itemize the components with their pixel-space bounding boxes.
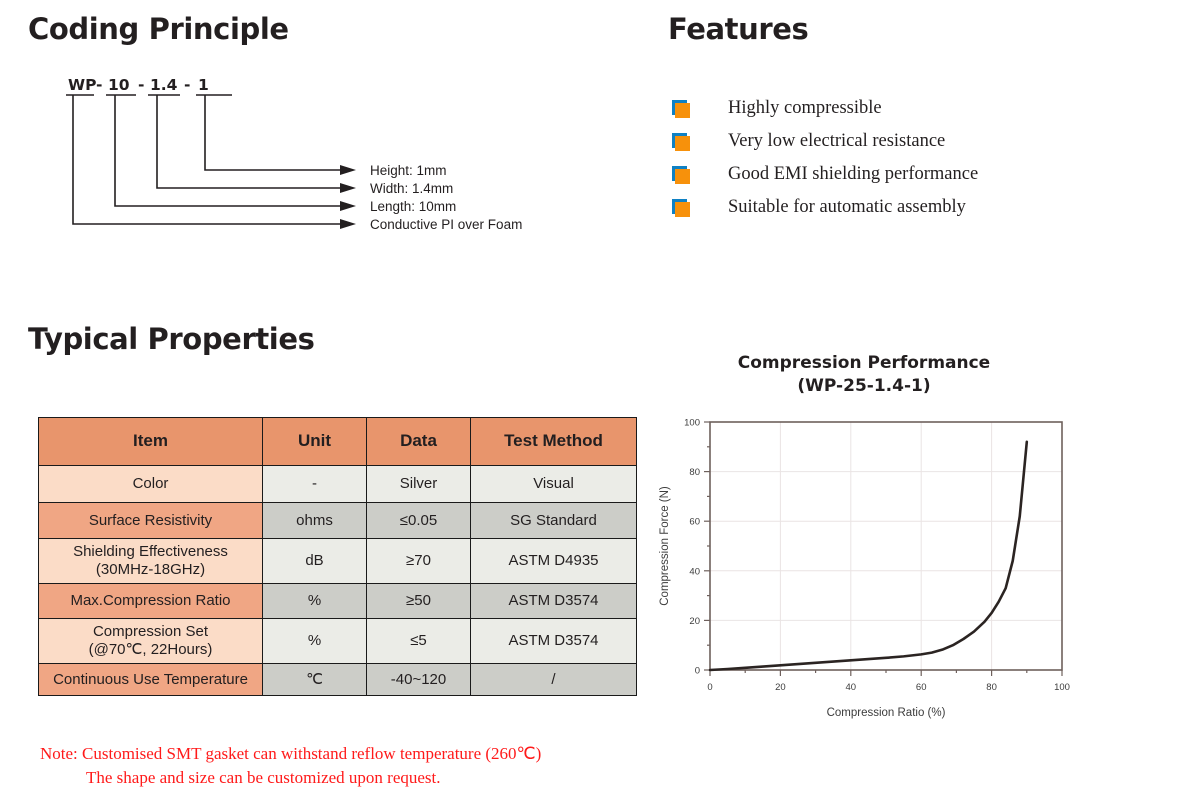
arrowhead-length [340,201,356,211]
cell-test-method: Visual [471,466,637,503]
cell-item-line1: Shielding Effectiveness [73,543,228,560]
code-part-width: 1.4 [150,76,178,94]
feature-label: Highly compressible [728,98,882,119]
cell-item: Surface Resistivity [39,503,263,539]
bullet-front-layer [675,169,690,184]
feature-item: Highly compressible [672,92,1152,125]
feature-item: Very low electrical resistance [672,125,1152,158]
table-row: Color - Silver Visual [39,466,637,503]
arrowhead-material [340,219,356,229]
table-row: Max.Compression Ratio % ≥50 ASTM D3574 [39,584,637,619]
column-header-unit: Unit [263,418,367,466]
chart-title-line2: (WP-25-1.4-1) [658,375,1070,398]
arrowhead-height [340,165,356,175]
table-row: Shielding Effectiveness (30MHz-18GHz) dB… [39,539,637,584]
column-header-test-method: Test Method [471,418,637,466]
column-header-item: Item [39,418,263,466]
code-dash-2: - [138,76,144,94]
chart-ticks [704,422,1062,676]
chart-gridlines [710,422,1062,670]
cell-item-line2: (@70℃, 22Hours) [89,641,213,658]
cell-item: Compression Set (@70℃, 22Hours) [39,619,263,664]
chart-y-tick: 0 [695,666,700,677]
cell-test-method: ASTM D3574 [471,584,637,619]
bullet-front-layer [675,103,690,118]
feature-item: Suitable for automatic assembly [672,191,1152,224]
cell-data: ≤0.05 [367,503,471,539]
note-line-1: Note: Customised SMT gasket can withstan… [40,744,541,763]
features-heading: Features [668,12,808,46]
chart-title-line1: Compression Performance [658,352,1070,375]
table-row: Continuous Use Temperature ℃ -40~120 / [39,664,637,696]
coding-principle-heading: Coding Principle [28,12,289,46]
chart-y-tick-labels: 020406080100 [684,418,700,677]
callout-label-length: Length: 10mm [370,199,456,214]
cell-test-method: / [471,664,637,696]
cell-test-method: ASTM D3574 [471,619,637,664]
chart-frame [710,422,1062,670]
code-part-length: 10 [108,76,130,94]
bullet-front-layer [675,202,690,217]
column-header-data: Data [367,418,471,466]
cell-item: Continuous Use Temperature [39,664,263,696]
orange-square-bullet-icon [672,132,708,152]
chart-plot-area: 020406080100 020406080100 Compression Ra… [652,414,1077,729]
coding-diagram-svg: WP - 10 - 1.4 - 1 Height: 1mm Width: 1.4… [0,60,620,250]
chart-x-tick: 80 [986,682,997,693]
cell-test-method: ASTM D4935 [471,539,637,584]
orange-square-bullet-icon [672,198,708,218]
leader-line-material [73,95,340,224]
cell-unit: % [263,584,367,619]
feature-label: Good EMI shielding performance [728,164,978,185]
cell-data: -40~120 [367,664,471,696]
code-part-height: 1 [198,76,209,94]
cell-unit: - [263,466,367,503]
typical-properties-heading: Typical Properties [28,322,314,356]
cell-data: ≥70 [367,539,471,584]
leader-line-height [205,95,340,170]
chart-x-axis-label: Compression Ratio (%) [827,707,946,719]
feature-label: Suitable for automatic assembly [728,197,966,218]
chart-title: Compression Performance (WP-25-1.4-1) [658,352,1070,398]
compression-performance-chart: Compression Performance (WP-25-1.4-1) 02… [652,352,1082,732]
cell-item: Max.Compression Ratio [39,584,263,619]
table-row: Compression Set (@70℃, 22Hours) % ≤5 AST… [39,619,637,664]
cell-data: Silver [367,466,471,503]
typical-properties-table: Item Unit Data Test Method Color - Silve… [38,417,637,696]
chart-x-tick: 20 [775,682,786,693]
chart-y-tick: 40 [689,566,700,577]
cell-unit: ohms [263,503,367,539]
arrowhead-width [340,183,356,193]
cell-data: ≤5 [367,619,471,664]
table-header-row: Item Unit Data Test Method [39,418,637,466]
chart-y-axis-label: Compression Force (N) [659,486,671,606]
callout-label-material: Conductive PI over Foam [370,217,522,232]
leader-line-width [157,95,340,188]
chart-y-tick: 60 [689,517,700,528]
chart-series-line [710,442,1027,670]
chart-x-tick: 40 [846,682,857,693]
bullet-front-layer [675,136,690,151]
cell-unit: dB [263,539,367,584]
code-dash-1: - [96,76,102,94]
cell-item-line2: (30MHz-18GHz) [96,561,205,578]
cell-item-line1: Compression Set [93,623,208,640]
chart-y-tick: 20 [689,616,700,627]
orange-square-bullet-icon [672,99,708,119]
cell-item: Color [39,466,263,503]
cell-test-method: SG Standard [471,503,637,539]
table-row: Surface Resistivity ohms ≤0.05 SG Standa… [39,503,637,539]
chart-y-tick: 100 [684,418,700,429]
callout-label-width: Width: 1.4mm [370,181,453,196]
callout-label-height: Height: 1mm [370,163,447,178]
chart-svg: 020406080100 020406080100 Compression Ra… [652,414,1077,724]
code-part-prefix: WP [68,76,96,94]
chart-x-tick: 0 [707,682,712,693]
chart-y-tick: 80 [689,467,700,478]
chart-x-tick: 60 [916,682,927,693]
cell-unit: ℃ [263,664,367,696]
chart-x-tick-labels: 020406080100 [707,682,1070,693]
cell-data: ≥50 [367,584,471,619]
orange-square-bullet-icon [672,165,708,185]
leader-line-length [115,95,340,206]
coding-principle-diagram: WP - 10 - 1.4 - 1 Height: 1mm Width: 1.4… [0,60,620,250]
chart-x-tick: 100 [1054,682,1070,693]
cell-item: Shielding Effectiveness (30MHz-18GHz) [39,539,263,584]
features-list: Highly compressible Very low electrical … [672,92,1152,224]
feature-label: Very low electrical resistance [728,131,945,152]
code-dash-3: - [184,76,190,94]
feature-item: Good EMI shielding performance [672,158,1152,191]
note-line-2: The shape and size can be customized upo… [40,766,541,790]
cell-unit: % [263,619,367,664]
note-block: Note: Customised SMT gasket can withstan… [40,742,541,790]
